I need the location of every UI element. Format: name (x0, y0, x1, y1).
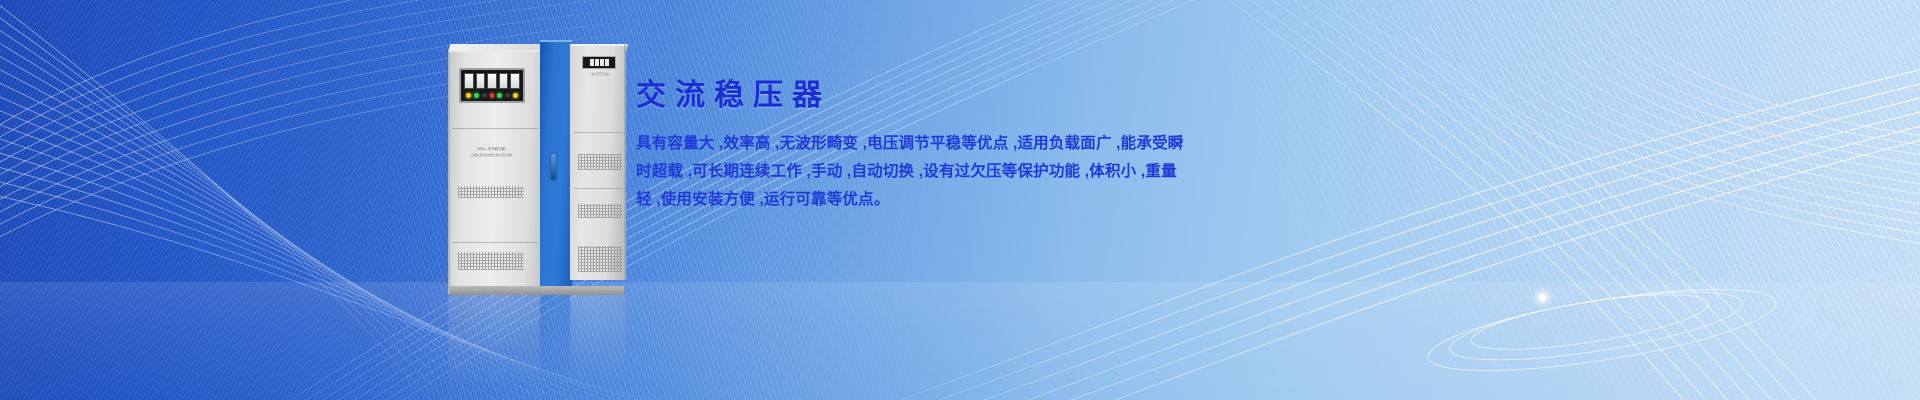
brand-plate-caption: 电力稳压设备 (584, 72, 616, 77)
glossy-floor (0, 282, 1920, 400)
product-reflection (436, 294, 636, 386)
indicator-lamp-green-1 (474, 93, 479, 98)
cabinet-nameplate: SBW—系列稳压器 三相全自动补偿式电力稳压器 (456, 146, 526, 158)
description-line-3: 轻 ,使用安装方便 ,运行可靠等优点。 (636, 186, 1158, 214)
voltage-stabilizer-cabinet: SBW—系列稳压器 三相全自动补偿式电力稳压器 电力稳压设备 (436, 36, 636, 294)
hatch-texture-right (1160, 0, 1920, 400)
page-title: 交流稳压器 (636, 76, 1176, 116)
control-panel (459, 68, 525, 103)
indicator-lamp-off-1 (482, 93, 487, 98)
vent-grille-front-upper (458, 186, 524, 198)
indicator-lamp-red (490, 93, 495, 98)
meter-4 (499, 73, 509, 89)
meter-2 (476, 73, 486, 89)
indicator-lamp-yellow-2 (513, 93, 518, 98)
nameplate-line-2: 三相全自动补偿式电力稳压器 (456, 152, 526, 158)
description-line-2: 时超载 ,可长期连续工作 ,手动 ,自动切换 ,设有过欠压等保护功能 ,体积小 … (636, 158, 1158, 186)
vent-grille-side-lower (578, 246, 622, 272)
meter-5 (510, 73, 520, 89)
cabinet-base-plinth (450, 286, 624, 295)
cabinet-blue-door (540, 40, 572, 292)
cabinet-seam-side-lower (574, 188, 626, 189)
meter-row (464, 73, 520, 89)
product-banner: SBW—系列稳压器 三相全自动补偿式电力稳压器 电力稳压设备 交流稳压器 具有容… (0, 0, 1920, 400)
description-line-1: 具有容量大 ,效率高 ,无波形畸变 ,电压调节平稳等优点 ,适用负载面广 ,能承… (636, 130, 1158, 158)
product-description: 具有容量大 ,效率高 ,无波形畸变 ,电压调节平稳等优点 ,适用负载面广 ,能承… (636, 130, 1158, 214)
indicator-lamp-off-2 (505, 93, 510, 98)
indicator-lamp-row (464, 93, 520, 98)
meter-1 (464, 73, 474, 89)
meter-3 (487, 73, 497, 89)
brand-plate (582, 56, 616, 69)
vent-grille-front-lower (458, 252, 524, 270)
cabinet-seam-front-lower (452, 242, 538, 243)
vent-grille-side-middle (578, 204, 622, 218)
door-handle (551, 154, 556, 180)
banner-copy: 交流稳压器 具有容量大 ,效率高 ,无波形畸变 ,电压调节平稳等优点 ,适用负载… (636, 76, 1176, 214)
cabinet-seam-side-upper (574, 132, 626, 133)
cabinet-seam-front-upper (452, 128, 538, 129)
light-dot-icon (1539, 294, 1546, 301)
indicator-lamp-yellow (466, 93, 471, 98)
indicator-lamp-green-2 (497, 93, 502, 98)
vent-grille-side-upper (578, 154, 622, 170)
